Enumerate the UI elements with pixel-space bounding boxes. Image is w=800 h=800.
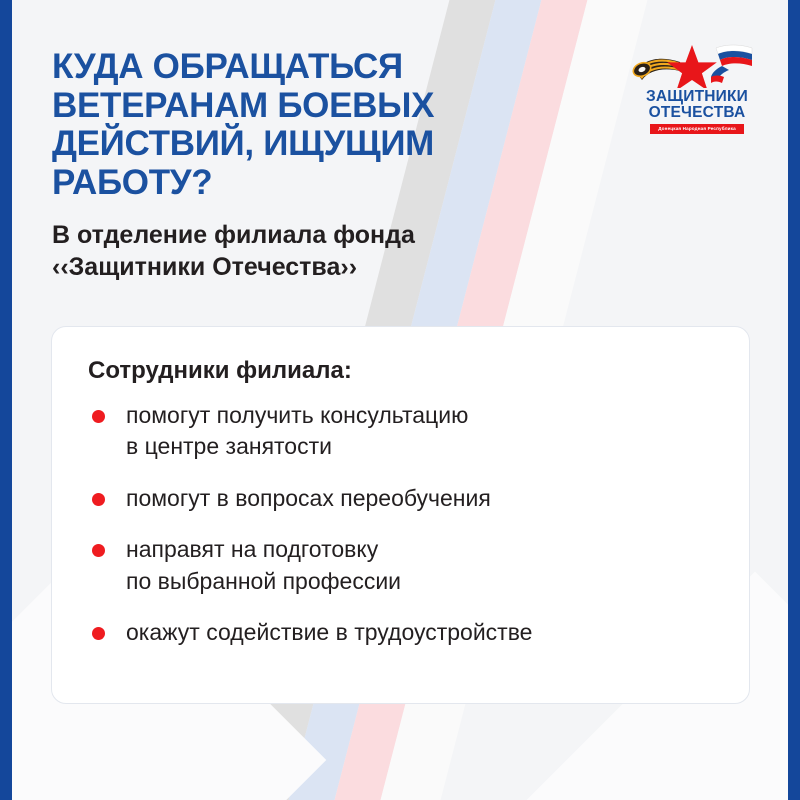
card-heading: Сотрудники филиала: [88,357,713,386]
bullet-dot-icon [92,410,105,423]
logo-artwork [632,42,762,88]
left-blue-rail [0,0,12,800]
page-title: КУДА ОБРАЩАТЬСЯ ВЕТЕРАНАМ БОЕВЫХ ДЕЙСТВИ… [52,48,472,202]
logo-name-line-1: ЗАЩИТНИКИ [632,89,762,105]
subtitle-line-1: В отделение филиала фонда [52,221,415,249]
list-item-line-1: окажут содействие в трудоустройстве [126,617,713,649]
list-item: окажут содействие в трудоустройстве [88,617,713,649]
list-item: направят на подготовку по выбранной проф… [88,534,713,597]
st-george-ribbon-icon [632,59,684,80]
logo-name-line-2: ОТЕЧЕСТВА [632,105,762,121]
services-list: помогут получить консультацию в центре з… [88,400,713,649]
list-item-line-2: по выбранной профессии [126,566,713,598]
page-subtitle: В отделение филиала фонда ‹‹Защитники От… [52,220,472,284]
list-item: помогут в вопросах переобучения [88,483,713,515]
list-item-line-1: помогут получить консультацию [126,400,713,432]
logo-wordmark: ЗАЩИТНИКИ ОТЕЧЕСТВА [632,89,762,121]
red-star-icon [667,45,717,88]
info-card: Сотрудники филиала: помогут получить кон… [51,326,750,704]
subtitle-line-2: ‹‹Защитники Отечества›› [52,253,357,281]
list-item-line-1: направят на подготовку [126,534,713,566]
list-item-line-2: в центре занятости [126,431,713,463]
organization-logo: ЗАЩИТНИКИ ОТЕЧЕСТВА Донецкая Народная Ре… [632,42,762,134]
poster-root: КУДА ОБРАЩАТЬСЯ ВЕТЕРАНАМ БОЕВЫХ ДЕЙСТВИ… [0,0,800,800]
bullet-dot-icon [92,493,105,506]
bullet-dot-icon [92,627,105,640]
right-blue-rail [788,0,800,800]
list-item-line-1: помогут в вопросах переобучения [126,483,713,515]
list-item: помогут получить консультацию в центре з… [88,400,713,463]
bullet-dot-icon [92,544,105,557]
logo-region-badge: Донецкая Народная Республика [650,124,744,134]
russian-flag-ribbon-icon [711,45,752,83]
